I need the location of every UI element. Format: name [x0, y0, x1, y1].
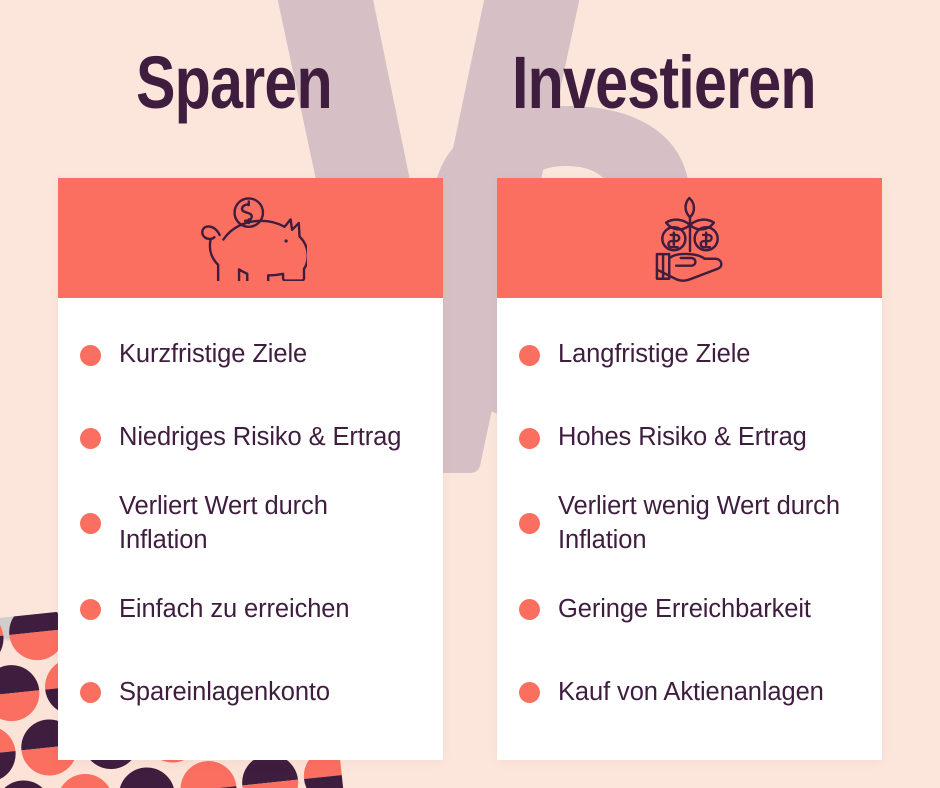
bullet-dot-icon — [80, 428, 101, 449]
bullet-dot-icon — [80, 345, 101, 366]
list-item-label: Geringe Erreichbarkeit — [558, 593, 811, 627]
card-body-investing: Langfristige ZieleHohes Risiko & ErtragV… — [497, 298, 882, 760]
bullet-dot-icon — [80, 599, 101, 620]
feature-list-saving: Kurzfristige ZieleNiedriges Risiko & Ert… — [80, 324, 421, 724]
feature-list-investing: Langfristige ZieleHohes Risiko & ErtragV… — [519, 324, 860, 724]
list-item-label: Einfach zu erreichen — [119, 593, 349, 627]
list-item-label: Hohes Risiko & Ertrag — [558, 421, 807, 455]
list-item: Kurzfristige Ziele — [80, 324, 421, 386]
card-header-investing — [497, 178, 882, 298]
bullet-dot-icon — [519, 428, 540, 449]
list-item: Spareinlagenkonto — [80, 662, 421, 724]
bullet-dot-icon — [80, 682, 101, 703]
list-item-label: Verliert Wert durch Inflation — [119, 490, 421, 558]
list-item-label: Niedriges Risiko & Ertrag — [119, 421, 401, 455]
list-item: Verliert wenig Wert durch Inflation — [519, 490, 860, 558]
list-item-label: Verliert wenig Wert durch Inflation — [558, 490, 860, 558]
list-item: Kauf von Aktienanlagen — [519, 662, 860, 724]
bullet-dot-icon — [519, 599, 540, 620]
page-title-investing: Investieren — [512, 46, 816, 120]
list-item: Verliert Wert durch Inflation — [80, 490, 421, 558]
card-body-saving: Kurzfristige ZieleNiedriges Risiko & Ert… — [58, 298, 443, 760]
list-item-label: Kauf von Aktienanlagen — [558, 676, 824, 710]
card-saving: Kurzfristige ZieleNiedriges Risiko & Ert… — [58, 178, 443, 760]
list-item: Hohes Risiko & Ertrag — [519, 407, 860, 469]
hand-plant-coins-icon — [640, 191, 740, 285]
card-investing: Langfristige ZieleHohes Risiko & ErtragV… — [497, 178, 882, 760]
card-header-saving — [58, 178, 443, 298]
list-item-label: Langfristige Ziele — [558, 338, 750, 372]
list-item: Einfach zu erreichen — [80, 579, 421, 641]
infographic-canvas: Sparen Investieren Kurzfristige ZieleNie… — [0, 0, 940, 788]
bullet-dot-icon — [519, 513, 540, 534]
page-title-saving: Sparen — [136, 46, 332, 120]
bullet-dot-icon — [519, 345, 540, 366]
piggy-bank-icon — [195, 195, 307, 281]
bullet-dot-icon — [80, 513, 101, 534]
list-item: Langfristige Ziele — [519, 324, 860, 386]
list-item: Geringe Erreichbarkeit — [519, 579, 860, 641]
list-item-label: Kurzfristige Ziele — [119, 338, 307, 372]
list-item-label: Spareinlagenkonto — [119, 676, 330, 710]
bullet-dot-icon — [519, 682, 540, 703]
list-item: Niedriges Risiko & Ertrag — [80, 407, 421, 469]
